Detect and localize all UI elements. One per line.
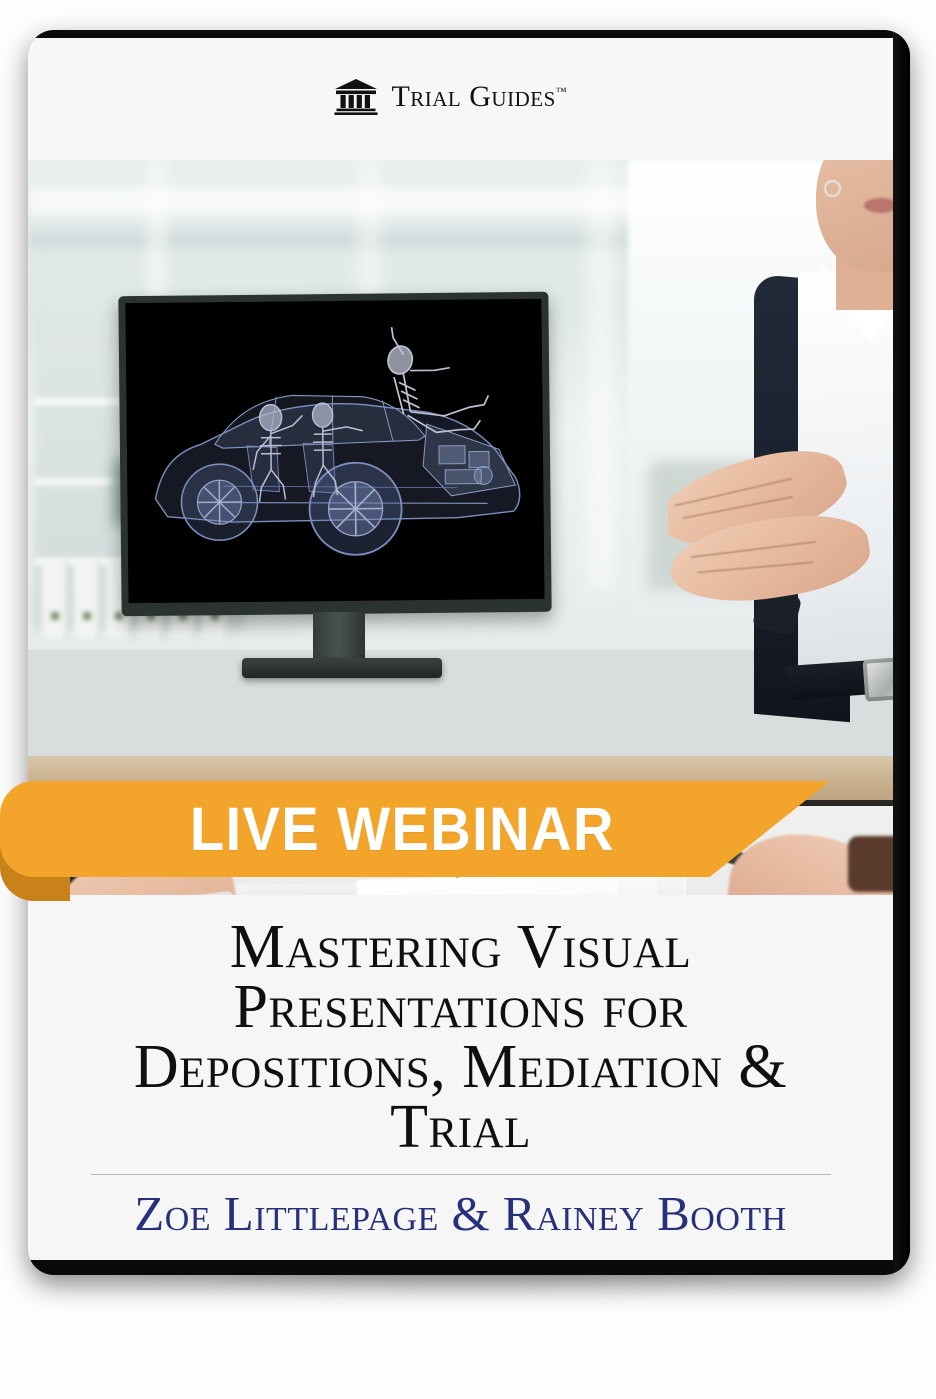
cover-header: Trial Guides™ [28,38,893,156]
courthouse-temple-icon [334,78,378,116]
trial-guides-logo: Trial Guides™ [334,78,566,116]
title-block: Mastering Visual Presentations for Depos… [28,895,893,1260]
monitor-base [242,658,442,678]
brand-wordmark: Trial Guides™ [391,80,566,114]
title-divider [91,1174,831,1175]
binder [74,560,100,638]
banner-label: LIVE WEBINAR [32,781,759,877]
cover-sleeve: Trial Guides™ [28,38,893,1260]
brand-name: Trial Guides [391,80,555,113]
head [816,160,893,272]
authors-line: Zoe Littlepage & Rainey Booth [51,1185,871,1242]
trademark-symbol: ™ [556,86,567,98]
page-title: Mastering Visual Presentations for Depos… [61,917,861,1158]
xray-crash-graphic [125,299,544,603]
belt-buckle [863,656,893,702]
binder [42,560,68,638]
dvd-case: Trial Guides™ [28,30,910,1275]
case-spine [893,30,910,1275]
monitor-screen [125,299,544,603]
earring [824,180,841,197]
lips [864,198,893,213]
live-webinar-banner: LIVE WEBINAR [0,781,830,873]
window-mullion [588,160,614,590]
foreground-watch-right [848,836,893,892]
presentation-monitor [118,292,551,616]
